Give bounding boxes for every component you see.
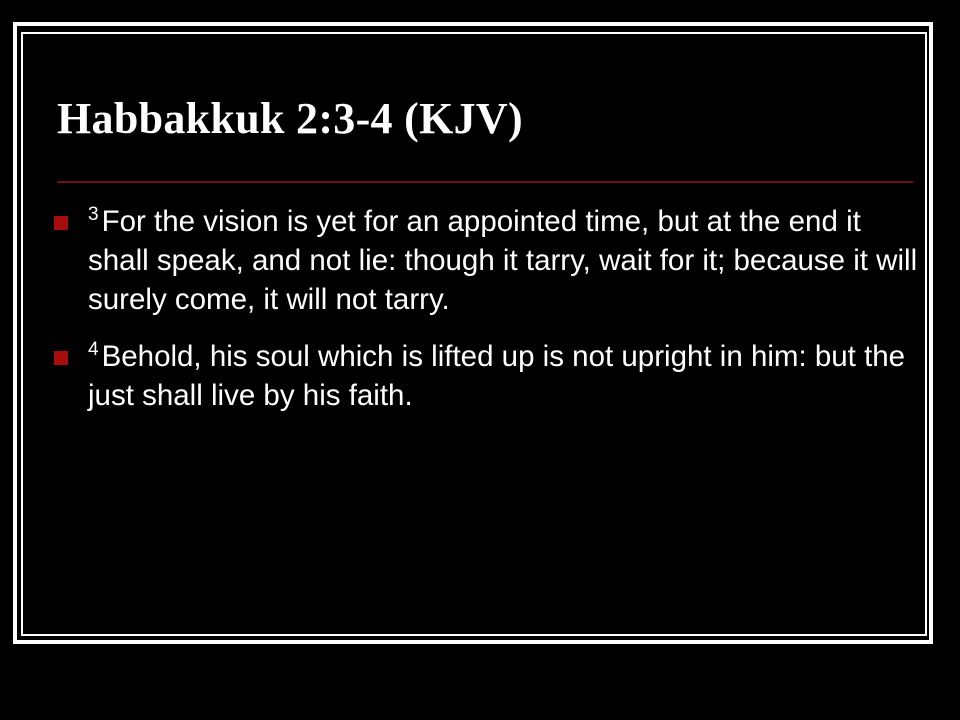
verse-text: Behold, his soul which is lifted up is n…	[88, 340, 905, 412]
verse-text: For the vision is yet for an appointed t…	[88, 205, 917, 316]
title-divider	[57, 181, 913, 183]
list-item: 4Behold, his soul which is lifted up is …	[40, 337, 920, 415]
slide-body: 3For the vision is yet for an appointed …	[40, 202, 920, 415]
list-item: 3For the vision is yet for an appointed …	[40, 202, 920, 319]
title-block: Habbakkuk 2:3-4 (KJV)	[57, 92, 917, 146]
page-title: Habbakkuk 2:3-4 (KJV)	[57, 92, 917, 146]
square-bullet-icon	[54, 216, 68, 230]
verse-number: 4	[88, 339, 102, 360]
bullet-list: 3For the vision is yet for an appointed …	[40, 202, 920, 415]
square-bullet-icon	[54, 351, 68, 365]
verse-number: 3	[88, 204, 102, 225]
presentation-slide: Habbakkuk 2:3-4 (KJV) 3For the vision is…	[0, 0, 960, 720]
